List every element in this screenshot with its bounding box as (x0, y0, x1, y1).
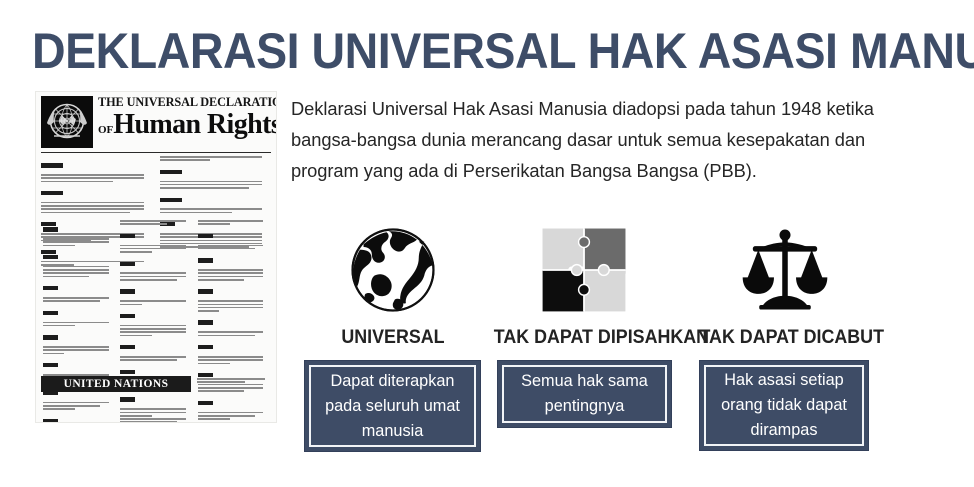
poster-header: THE UNIVERSAL DECLARATION OFHuman Rights (36, 92, 276, 152)
poster-article-column (198, 220, 269, 380)
article-tag (43, 419, 58, 422)
poster-footer: UNITED NATIONS (41, 376, 271, 400)
article-tag (120, 289, 135, 293)
caption-box-inner-border: Semua hak sama pentingnya (502, 365, 667, 423)
puzzle-pieces-icon (488, 220, 680, 320)
poster-preamble-column (41, 156, 153, 216)
article-tag (43, 227, 58, 231)
article-tag (43, 363, 58, 367)
udhr-poster-image: THE UNIVERSAL DECLARATION OFHuman Rights (36, 92, 276, 422)
pillar-universal: UNIVERSAL (305, 220, 481, 349)
article-tag (120, 345, 135, 349)
poster-preamble (41, 156, 271, 216)
poster-heading: THE UNIVERSAL DECLARATION OFHuman Rights (98, 95, 272, 139)
poster-heading-title: Human Rights (113, 109, 276, 140)
caption-box-inalienable: Hak asasi setiap orang tidak dapat diram… (699, 360, 869, 451)
page-title: DEKLARASI UNIVERSAL HAK ASASI MANUSIA (D… (32, 22, 878, 80)
article-tag (120, 314, 135, 318)
article-tag (43, 286, 58, 290)
poster-article-column (120, 220, 191, 380)
pillar-inseparable: TAK DAPAT DIPISAHKAN (488, 220, 680, 349)
scales-of-justice-icon (694, 220, 876, 320)
article-tag (43, 311, 58, 315)
article-tag (43, 335, 58, 339)
globe-icon (305, 220, 481, 320)
article-tag (120, 234, 135, 238)
caption-box-inner-border: Hak asasi setiap orang tidak dapat diram… (704, 365, 864, 446)
article-tag (160, 198, 182, 202)
poster-article-column (43, 220, 114, 380)
pillar-label-universal: UNIVERSAL (310, 327, 475, 349)
article-tag (198, 401, 213, 405)
poster-heading-line1: THE UNIVERSAL DECLARATION (98, 95, 270, 110)
caption-box-inseparable: Semua hak sama pentingnya (497, 360, 672, 428)
article-tag (160, 170, 182, 174)
article-tag (198, 289, 213, 293)
article-tag (120, 370, 135, 374)
article-tag (41, 163, 63, 167)
article-tag (43, 255, 58, 259)
article-tag (120, 262, 135, 266)
poster-divider (41, 152, 271, 153)
article-tag (198, 320, 213, 324)
caption-box-universal: Dapat diterapkan pada seluruh umat manus… (304, 360, 481, 452)
un-emblem-icon (41, 96, 93, 148)
poster-heading-of: OF (98, 124, 113, 136)
caption-text-inalienable: Hak asasi setiap orang tidak dapat diram… (706, 368, 862, 443)
poster-footer-text (197, 376, 271, 385)
article-tag (41, 191, 63, 195)
poster-preamble-column (160, 156, 272, 216)
poster-articles (43, 220, 269, 380)
united-nations-banner: UNITED NATIONS (41, 376, 191, 392)
caption-box-inner-border: Dapat diterapkan pada seluruh umat manus… (309, 365, 476, 447)
poster-heading-line2: OFHuman Rights (98, 111, 272, 139)
pillar-inalienable: TAK DAPAT DICABUT (694, 220, 876, 349)
intro-paragraph: Deklarasi Universal Hak Asasi Manusia di… (291, 93, 897, 186)
article-tag (198, 345, 213, 349)
article-tag (198, 234, 213, 238)
pillar-label-inseparable: TAK DAPAT DIPISAHKAN (494, 327, 674, 349)
caption-text-inseparable: Semua hak sama pentingnya (504, 369, 665, 419)
pillar-label-inalienable: TAK DAPAT DICABUT (699, 327, 870, 349)
article-tag (198, 258, 213, 262)
caption-text-universal: Dapat diterapkan pada seluruh umat manus… (311, 369, 474, 444)
